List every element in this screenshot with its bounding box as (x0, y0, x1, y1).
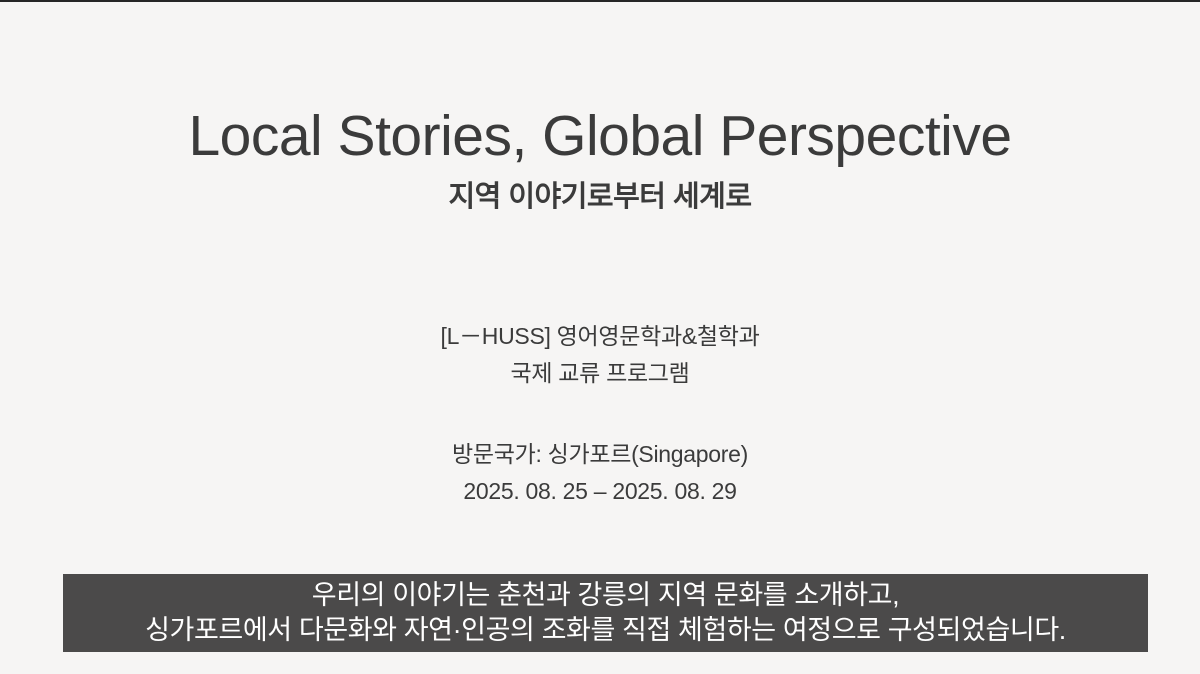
visit-date-line: 2025. 08. 25 – 2025. 08. 29 (0, 473, 1200, 510)
slide-main-title: Local Stories, Global Perspective (0, 106, 1200, 168)
department-line-primary: [L－HUSS] 영어영문학과&철학과 (0, 318, 1200, 355)
caption-bar: 우리의 이야기는 춘천과 강릉의 지역 문화를 소개하고, 싱가포르에서 다문화… (63, 574, 1148, 652)
department-line-secondary: 국제 교류 프로그램 (0, 355, 1200, 392)
visit-info-block: 방문국가: 싱가포르(Singapore) 2025. 08. 25 – 202… (0, 436, 1200, 511)
presentation-slide: Local Stories, Global Perspective 지역 이야기… (0, 0, 1200, 674)
title-block: Local Stories, Global Perspective 지역 이야기… (0, 106, 1200, 214)
slide-korean-subtitle: 지역 이야기로부터 세계로 (0, 180, 1200, 215)
caption-line-2: 싱가포르에서 다문화와 자연·인공의 조화를 직접 체험하는 여정으로 구성되었… (145, 613, 1066, 648)
caption-line-1: 우리의 이야기는 춘천과 강릉의 지역 문화를 소개하고, (312, 578, 899, 613)
department-block: [L－HUSS] 영어영문학과&철학과 국제 교류 프로그램 (0, 318, 1200, 393)
visit-country-line: 방문국가: 싱가포르(Singapore) (0, 436, 1200, 473)
